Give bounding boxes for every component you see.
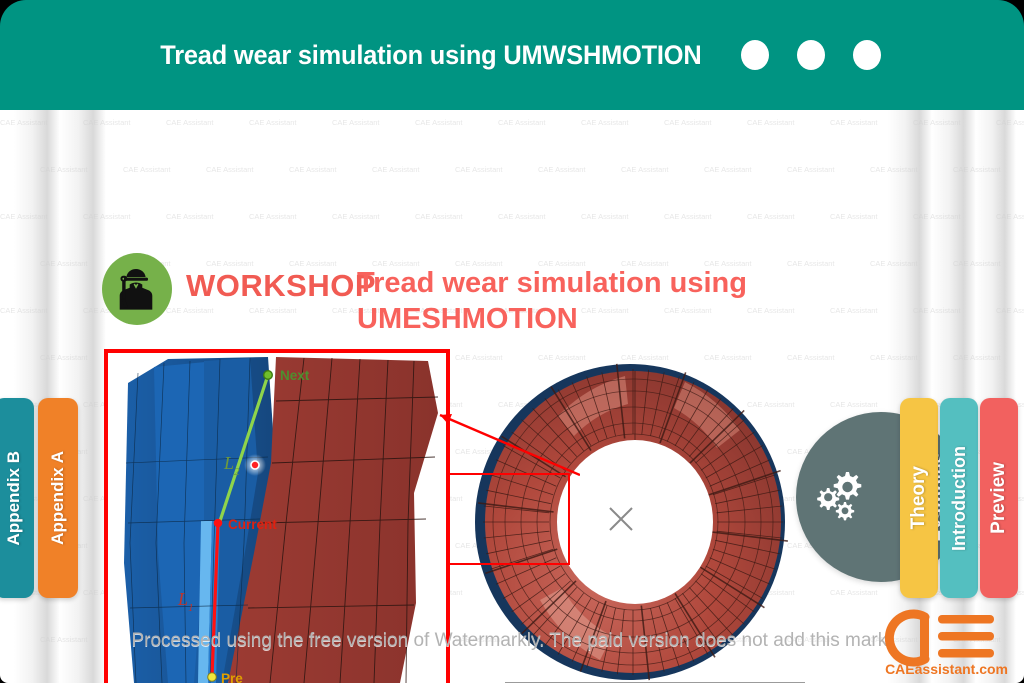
watermark-tile: CAE Assistant (123, 165, 171, 174)
watermark-tile: CAE Assistant (249, 212, 297, 221)
watermark-tile: CAE Assistant (870, 165, 918, 174)
sidebar-item-theory[interactable]: Theory (900, 398, 938, 598)
slide-heading-line2: UMESHMOTION (357, 301, 797, 337)
watermark-tile: CAE Assistant (953, 259, 1001, 268)
watermark-tile: CAE Assistant (538, 165, 586, 174)
watermark-tile: CAE Assistant (581, 212, 629, 221)
watermark-tile: CAE Assistant (830, 212, 878, 221)
watermark-tile: CAE Assistant (40, 353, 88, 362)
watermarkly-notice: Processed using the free version of Wate… (0, 630, 1024, 652)
sidebar-item-appendix-b[interactable]: Appendix B (0, 398, 34, 598)
watermark-tile: CAE Assistant (498, 212, 546, 221)
watermark-tile: CAE Assistant (953, 353, 1001, 362)
watermark-tile: CAE Assistant (830, 306, 878, 315)
watermark-tile: CAE Assistant (581, 118, 629, 127)
sidebar-item-label: Appendix A (48, 451, 68, 545)
watermark-tile: CAE Assistant (787, 165, 835, 174)
dot-2[interactable] (797, 40, 825, 70)
watermark-tile: CAE Assistant (206, 259, 254, 268)
watermark-tile: CAE Assistant (498, 118, 546, 127)
page-title: Tread wear simulation using UMWSHMOTION (160, 40, 701, 71)
watermark-tile: CAE Assistant (415, 118, 463, 127)
sidebar-item-appendix-a[interactable]: Appendix A (38, 398, 78, 598)
slide-viewer: Tread wear simulation using UMWSHMOTION … (0, 0, 1024, 683)
logo-text: CAEassistant.com (885, 661, 1008, 677)
watermark-tile: CAE Assistant (40, 259, 88, 268)
watermark-tile: CAE Assistant (870, 259, 918, 268)
watermark-tile: CAE Assistant (996, 306, 1024, 315)
sidebar-item-label: Preview (988, 462, 1010, 534)
watermark-tile: CAE Assistant (747, 212, 795, 221)
watermark-tile: CAE Assistant (0, 212, 48, 221)
header-dots (741, 40, 881, 70)
watermark-tile: CAE Assistant (83, 212, 131, 221)
dot-1[interactable] (741, 40, 769, 70)
watermark-tile: CAE Assistant (913, 118, 961, 127)
engineer-icon (102, 253, 172, 325)
watermark-tile: CAE Assistant (40, 165, 88, 174)
watermark-tile: CAE Assistant (166, 212, 214, 221)
sidebar-item-introduction[interactable]: Introduction (940, 398, 978, 598)
pre-label: Pre (221, 671, 243, 683)
watermark-tile: CAE Assistant (332, 118, 380, 127)
sidebar-item-preview[interactable]: Preview (980, 398, 1018, 598)
workshop-label-wrap: WORKSHOP (186, 268, 376, 304)
watermark-tile: CAE Assistant (249, 306, 297, 315)
sidebar-item-label: Introduction (949, 446, 970, 551)
watermark-tile: CAE Assistant (664, 118, 712, 127)
slide-heading: Tread wear simulation using UMESHMOTION (357, 265, 797, 338)
watermark-tile: CAE Assistant (996, 212, 1024, 221)
watermark-tile: CAE Assistant (166, 118, 214, 127)
watermark-tile: CAE Assistant (621, 165, 669, 174)
sidebar-item-label: Theory (908, 466, 930, 529)
workshop-label: WORKSHOP (186, 268, 376, 304)
watermark-tile: CAE Assistant (166, 306, 214, 315)
next-label: Next (280, 368, 310, 383)
sidebar-item-label: Appendix B (4, 451, 24, 545)
watermark-tile: CAE Assistant (206, 165, 254, 174)
watermark-tile: CAE Assistant (372, 165, 420, 174)
watermark-tile: CAE Assistant (830, 118, 878, 127)
watermark-tile: CAE Assistant (664, 212, 712, 221)
watermark-tile: CAE Assistant (913, 212, 961, 221)
watermark-tile: CAE Assistant (870, 353, 918, 362)
slide-content: CAE AssistantCAE AssistantCAE AssistantC… (0, 110, 1024, 683)
watermark-tile: CAE Assistant (913, 306, 961, 315)
watermark-tile: CAE Assistant (0, 306, 48, 315)
watermark-tile: CAE Assistant (953, 165, 1001, 174)
slide-heading-line1: Tread wear simulation using (357, 265, 797, 301)
watermark-tile: CAE Assistant (289, 165, 337, 174)
watermark-tile: CAE Assistant (332, 212, 380, 221)
watermark-tile: CAE Assistant (704, 165, 752, 174)
current-label: Current (228, 517, 277, 532)
watermark-tile: CAE Assistant (747, 118, 795, 127)
header-bar: Tread wear simulation using UMWSHMOTION (0, 0, 1024, 110)
watermark-tile: CAE Assistant (996, 118, 1024, 127)
callout-rectangle (448, 473, 570, 565)
watermark-tile: CAE Assistant (289, 259, 337, 268)
watermark-tile: CAE Assistant (455, 165, 503, 174)
watermark-tile: CAE Assistant (415, 212, 463, 221)
dot-3[interactable] (853, 40, 881, 70)
watermark-tile: CAE Assistant (249, 118, 297, 127)
watermark-tile: CAE Assistant (0, 118, 48, 127)
watermark-tile: CAE Assistant (83, 118, 131, 127)
